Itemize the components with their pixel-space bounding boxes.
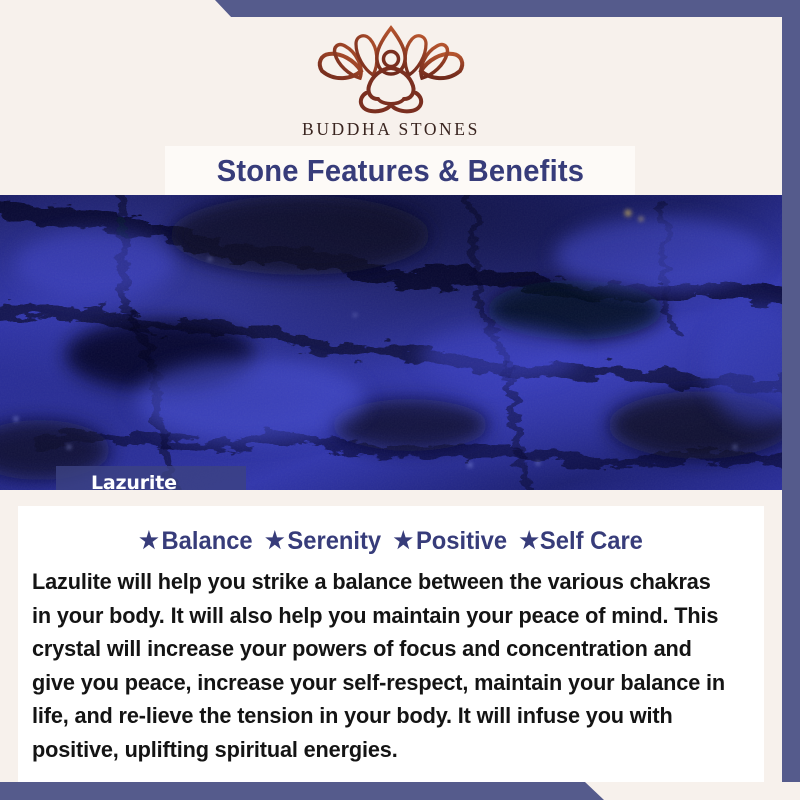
brand-logo: BUDDHA STONES [276,23,506,140]
star-icon: ★ [394,527,414,553]
stone-photo-art [0,195,782,490]
brand-name: BUDDHA STONES [276,119,506,140]
keyword-serenity: Serenity [287,527,381,555]
lotus-buddha-icon [306,23,476,118]
keyword-self-care: Self Care [540,527,643,555]
frame-top-band [0,0,800,18]
stone-description: Lazulite will help you strike a balance … [32,565,726,766]
star-icon: ★ [265,527,285,553]
poster-canvas: BUDDHA STONES Stone Features & Benefits [0,0,800,800]
frame-right-band [782,17,800,782]
keyword-positive: Positive [416,527,507,555]
frame-bottom-band [0,782,800,800]
stone-caption-banner: Lazurite [56,466,246,490]
keyword-list: ★Balance★Serenity★Positive★Self Care [37,527,746,556]
page-title: Stone Features & Benefits [216,153,583,189]
keyword-balance: Balance [162,527,253,555]
star-icon: ★ [139,527,159,553]
lazurite-stone-photo: Lazurite [0,195,782,490]
title-band: Stone Features & Benefits [165,146,635,195]
star-icon: ★ [519,527,539,553]
content-card: ★Balance★Serenity★Positive★Self Care Laz… [18,506,764,782]
poster-page: BUDDHA STONES Stone Features & Benefits [0,17,782,782]
stone-name-label: Lazurite [56,472,177,490]
